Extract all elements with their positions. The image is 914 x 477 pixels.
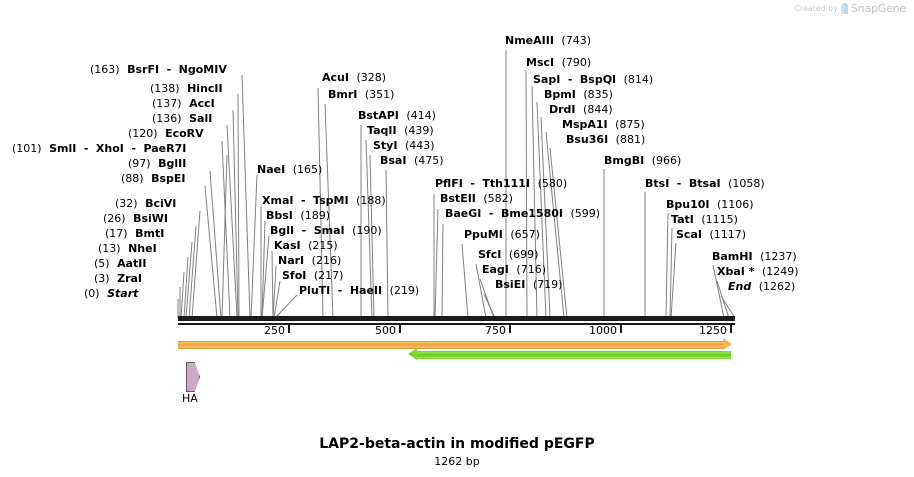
ruler-tick-1000 xyxy=(620,324,622,333)
ruler-tick-1250 xyxy=(730,324,732,333)
ruler-tick-label-250: 250 xyxy=(248,324,285,337)
orange-feature-arrow[interactable] xyxy=(178,341,723,349)
page-title: LAP2-beta-actin in modified pEGFP xyxy=(0,436,914,452)
ruler-tick-250 xyxy=(288,324,290,333)
snapgene-linear-map: Created by SnapGene xyxy=(0,0,914,477)
orange-feature-arrowhead-icon xyxy=(723,338,732,350)
ruler-tick-label-500: 500 xyxy=(359,324,396,337)
ruler-tick-500 xyxy=(399,324,401,333)
page-subtitle: 1262 bp xyxy=(0,455,914,468)
ruler-tick-label-750: 750 xyxy=(469,324,506,337)
ruler-tick-750 xyxy=(509,324,511,333)
sequence-ruler: 250 500 750 1000 1250 xyxy=(0,0,914,477)
ruler-tick-label-1250: 1250 xyxy=(683,324,727,337)
ha-feature-label: HA xyxy=(182,392,198,405)
green-feature-arrow[interactable] xyxy=(417,351,731,359)
ruler-tick-label-1000: 1000 xyxy=(573,324,617,337)
ruler-backbone xyxy=(178,316,735,321)
green-feature-arrowhead-icon xyxy=(408,348,417,360)
